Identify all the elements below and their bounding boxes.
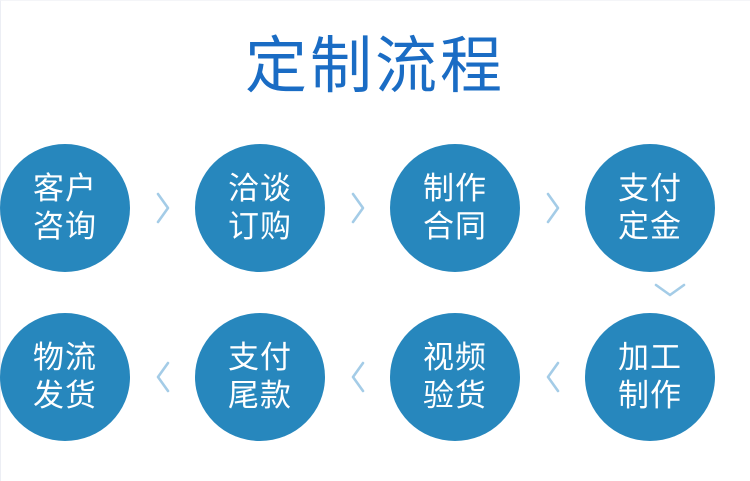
flow-node-prepare-contract[interactable]: 制作 合同 bbox=[390, 144, 520, 272]
flow-node-manufacturing[interactable]: 加工 制作 bbox=[585, 313, 715, 441]
page-title: 定制流程 bbox=[0, 28, 750, 106]
flow-node-label-line1: 洽谈 bbox=[228, 170, 292, 208]
chevron-left-icon bbox=[544, 360, 562, 394]
chevron-left-icon bbox=[154, 360, 172, 394]
connector-2 bbox=[325, 144, 390, 272]
flow-node-pay-balance[interactable]: 支付 尾款 bbox=[195, 313, 325, 441]
flow-node-logistics-shipping[interactable]: 物流 发货 bbox=[0, 313, 130, 441]
connector-turn-down bbox=[645, 276, 695, 308]
flow-node-label-line1: 制作 bbox=[423, 170, 487, 208]
custom-process-flow-diagram: 定制流程 客户 咨询 洽谈 订购 制作 合 bbox=[0, 0, 750, 481]
flow-node-label-line1: 物流 bbox=[33, 339, 97, 377]
flow-node-label-line2: 合同 bbox=[423, 208, 487, 246]
flow-node-label-line2: 验货 bbox=[423, 377, 487, 415]
chevron-down-icon bbox=[653, 281, 687, 304]
flow-node-label-line1: 支付 bbox=[228, 339, 292, 377]
flow-node-label-line1: 加工 bbox=[618, 339, 682, 377]
flow-node-customer-consultation[interactable]: 客户 咨询 bbox=[0, 144, 130, 272]
flow-node-label-line1: 客户 bbox=[33, 170, 97, 208]
connector-6 bbox=[520, 313, 585, 441]
flow-node-video-inspection[interactable]: 视频 验货 bbox=[390, 313, 520, 441]
flow-node-negotiate-order[interactable]: 洽谈 订购 bbox=[195, 144, 325, 272]
flow-node-pay-deposit[interactable]: 支付 定金 bbox=[585, 144, 715, 272]
connector-4 bbox=[130, 313, 195, 441]
flow-node-label-line2: 定金 bbox=[618, 208, 682, 246]
chevron-right-icon bbox=[349, 191, 367, 225]
chevron-right-icon bbox=[154, 191, 172, 225]
connector-1 bbox=[130, 144, 195, 272]
chevron-right-icon bbox=[544, 191, 562, 225]
flow-node-label-line2: 发货 bbox=[33, 377, 97, 415]
flow-node-label-line2: 尾款 bbox=[228, 377, 292, 415]
flow-row-bottom: 物流 发货 支付 尾款 视频 验货 bbox=[0, 312, 750, 442]
flow-node-label-line1: 视频 bbox=[423, 339, 487, 377]
chevron-left-icon bbox=[349, 360, 367, 394]
flow-node-label-line2: 制作 bbox=[618, 377, 682, 415]
connector-3 bbox=[520, 144, 585, 272]
connector-5 bbox=[325, 313, 390, 441]
flow-node-label-line2: 咨询 bbox=[33, 208, 97, 246]
flow-node-label-line2: 订购 bbox=[228, 208, 292, 246]
flow-row-top: 客户 咨询 洽谈 订购 制作 合同 bbox=[0, 143, 750, 273]
flow-node-label-line1: 支付 bbox=[618, 170, 682, 208]
